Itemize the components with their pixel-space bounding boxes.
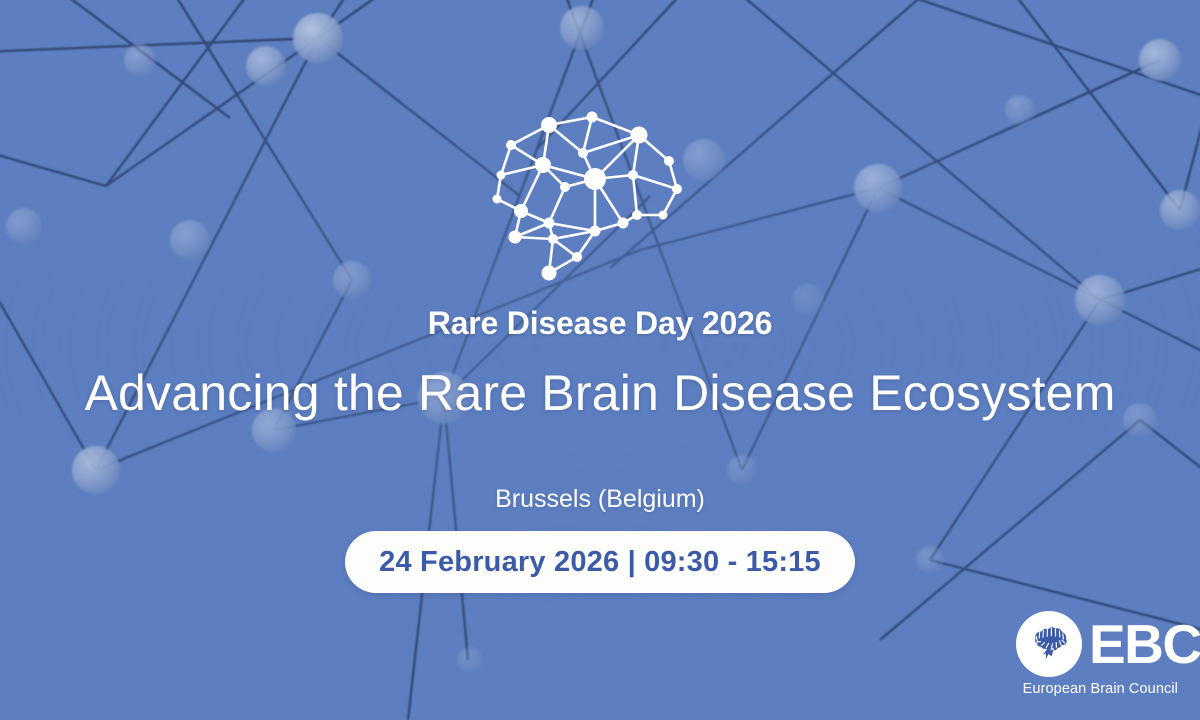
event-location: Brussels (Belgium) <box>0 482 1200 516</box>
event-series-title: Rare Disease Day 2026 <box>0 303 1200 343</box>
ebc-logo-mark-row: EBC <box>1016 609 1200 679</box>
ebc-logo: EBC European Brain Council <box>1016 609 1178 703</box>
event-banner: Rare Disease Day 2026 Advancing the Rare… <box>0 0 1200 720</box>
event-date-time-text: 24 February 2026 | 09:30 - 15:15 <box>379 546 821 579</box>
event-headline: Advancing the Rare Brain Disease Ecosyst… <box>0 362 1200 424</box>
ebc-brain-icon <box>1026 623 1072 665</box>
ebc-wordmark: EBC <box>1089 617 1200 672</box>
ebc-tagline: European Brain Council <box>1016 681 1178 697</box>
event-date-time-badge: 24 February 2026 | 09:30 - 15:15 <box>345 531 855 593</box>
ebc-brain-emblem-circle <box>1016 611 1082 677</box>
